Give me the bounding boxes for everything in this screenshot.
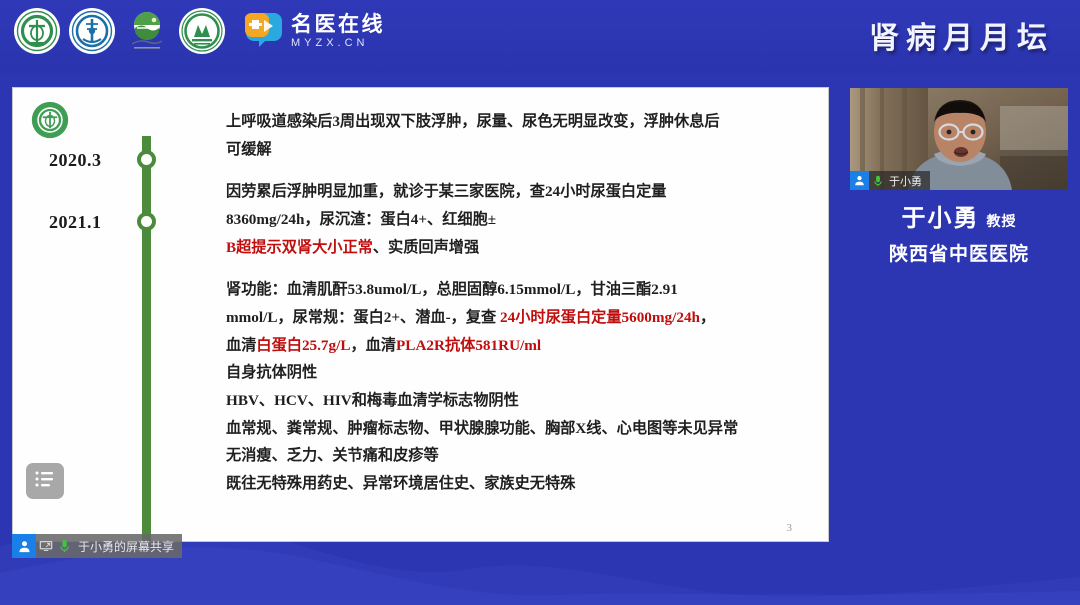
slide-text-highlight: B超提示双肾大小正常	[226, 239, 373, 256]
timeline-line	[142, 136, 151, 542]
shared-slide: 2020.3 2021.1 上呼吸道感染后3周出现双下肢浮肿，尿量、尿色无明显改…	[12, 87, 829, 542]
slide-text-line: 肾功能：血清肌酐53.8umol/L，总胆固醇6.15mmol/L，甘油三酯2.…	[226, 276, 801, 304]
hospital-emblem-green-icon	[15, 9, 59, 53]
org-logo-4	[179, 8, 225, 54]
speaker-affiliation: 陕西省中医医院	[850, 239, 1068, 266]
slide-text-block: 因劳累后浮肿明显加重，就诊于某三家医院，查24小时尿蛋白定量8360mg/24h…	[226, 178, 801, 261]
slide-text-highlight: PLA2R抗体581RU/ml	[396, 337, 541, 354]
slide-text-line: 因劳累后浮肿明显加重，就诊于某三家医院，查24小时尿蛋白定量	[226, 178, 801, 206]
slide-text-line: 无消瘦、乏力、关节痛和皮疹等	[226, 442, 801, 470]
slide-text-line: HBV、HCV、HIV和梅毒血清学标志物阴性	[226, 387, 801, 415]
screen-share-icon	[36, 534, 55, 558]
slide-text-span: mmol/L，尿常规：蛋白2+、潜血-，复查	[226, 309, 500, 326]
brand-name-cn: 名医在线	[291, 14, 385, 35]
slide-text-span: 血清	[226, 337, 256, 354]
academy-landscape-icon	[124, 8, 170, 54]
slide-text-highlight: 24小时尿蛋白定量5600mg/24h	[500, 309, 700, 326]
slide-text-line: 8360mg/24h，尿沉渣：蛋白4+、红细胞±	[226, 206, 801, 234]
slide-text-span: 既往无特殊用药史、异常环境居住史、家族史无特殊	[226, 475, 575, 492]
slide-text-block: 上呼吸道感染后3周出现双下肢浮肿，尿量、尿色无明显改变，浮肿休息后可缓解	[226, 108, 801, 163]
list-menu-icon	[34, 470, 56, 493]
microphone-icon	[869, 171, 886, 190]
slide-text-span: ，	[700, 309, 715, 326]
slide-text-span: 自身抗体阴性	[226, 364, 317, 381]
person-icon	[12, 534, 36, 558]
org-logo-2	[69, 8, 115, 54]
slide-text-line: 血清白蛋白25.7g/L，血清PLA2R抗体581RU/ml	[226, 332, 801, 360]
timeline-label-1: 2021.1	[49, 212, 102, 233]
speaker-panel: 于小勇 于小勇教授 陕西省中医医院	[850, 88, 1068, 288]
org-logo-3	[124, 8, 170, 54]
slide-text-highlight: 白蛋白25.7g/L	[256, 337, 350, 354]
timeline-label-0: 2020.3	[49, 150, 102, 171]
page-title: 肾病月月坛	[869, 13, 1054, 57]
slide-text-span: 可缓解	[226, 141, 272, 158]
slide-text-span: 无消瘦、乏力、关节痛和皮疹等	[226, 447, 439, 464]
video-tile-label: 于小勇	[886, 173, 930, 189]
brand-logo: 名医在线 MYZX.CN	[242, 11, 385, 51]
speaker-info: 于小勇教授 陕西省中医医院	[850, 198, 1068, 266]
slide-text-span: 血常规、粪常规、肿瘤标志物、甲状腺腺功能、胸部X线、心电图等未见异常	[226, 420, 738, 437]
slide-text-span: 、实质回声增强	[373, 239, 479, 256]
slide-hospital-emblem-icon	[30, 100, 70, 140]
org-logo-1	[14, 8, 60, 54]
slide-text-span: 肾功能：血清肌酐53.8umol/L，总胆固醇6.15mmol/L，甘油三酯2.…	[226, 281, 678, 298]
microphone-icon	[55, 534, 74, 558]
hospital-emblem-blue-icon	[70, 9, 114, 53]
header-logo-row: 名医在线 MYZX.CN	[14, 8, 385, 54]
slide-page-number: 3	[787, 522, 793, 534]
slide-text-span: HBV、HCV、HIV和梅毒血清学标志物阴性	[226, 392, 519, 409]
brand-name-en: MYZX.CN	[291, 38, 385, 49]
timeline-node-1	[137, 212, 156, 231]
header-bar: 名医在线 MYZX.CN 肾病月月坛	[0, 0, 1080, 73]
slide-text-line: 自身抗体阴性	[226, 359, 801, 387]
timeline-node-0	[137, 150, 156, 169]
slide-text-block: 肾功能：血清肌酐53.8umol/L，总胆固醇6.15mmol/L，甘油三酯2.…	[226, 276, 801, 497]
slide-text-line: 上呼吸道感染后3周出现双下肢浮肿，尿量、尿色无明显改变，浮肿休息后	[226, 108, 801, 136]
webinar-screen: 名医在线 MYZX.CN 肾病月月坛 2020.3 2021.1 上呼吸道感染后…	[0, 0, 1080, 605]
slide-text-line: 既往无特殊用药史、异常环境居住史、家族史无特殊	[226, 470, 801, 498]
slide-menu-button[interactable]	[26, 463, 64, 499]
play-plus-icon	[242, 11, 284, 51]
screen-share-label: 于小勇的屏幕共享	[74, 538, 182, 555]
video-tile[interactable]: 于小勇	[850, 88, 1068, 190]
person-icon	[850, 171, 869, 190]
slide-body-text: 上呼吸道感染后3周出现双下肢浮肿，尿量、尿色无明显改变，浮肿休息后可缓解因劳累后…	[226, 108, 801, 498]
screen-share-indicator[interactable]: 于小勇的屏幕共享	[12, 534, 182, 558]
slide-text-span: 8360mg/24h，尿沉渣：蛋白4+、红细胞±	[226, 211, 496, 228]
slide-text-line: mmol/L，尿常规：蛋白2+、潜血-，复查 24小时尿蛋白定量5600mg/2…	[226, 304, 801, 332]
slide-text-span: 因劳累后浮肿明显加重，就诊于某三家医院，查24小时尿蛋白定量	[226, 183, 666, 200]
slide-text-span: ，血清	[350, 337, 396, 354]
slide-text-line: 可缓解	[226, 136, 801, 164]
speaker-name: 于小勇	[902, 204, 980, 232]
university-emblem-green-icon	[180, 9, 224, 53]
speaker-name-row: 于小勇教授	[850, 198, 1068, 233]
slide-text-span: 上呼吸道感染后3周出现双下肢浮肿，尿量、尿色无明显改变，浮肿休息后	[226, 113, 720, 130]
slide-text-line: 血常规、粪常规、肿瘤标志物、甲状腺腺功能、胸部X线、心电图等未见异常	[226, 415, 801, 443]
slide-text-line: B超提示双肾大小正常、实质回声增强	[226, 234, 801, 262]
video-tile-name-bar: 于小勇	[850, 171, 930, 190]
speaker-title: 教授	[987, 214, 1017, 230]
